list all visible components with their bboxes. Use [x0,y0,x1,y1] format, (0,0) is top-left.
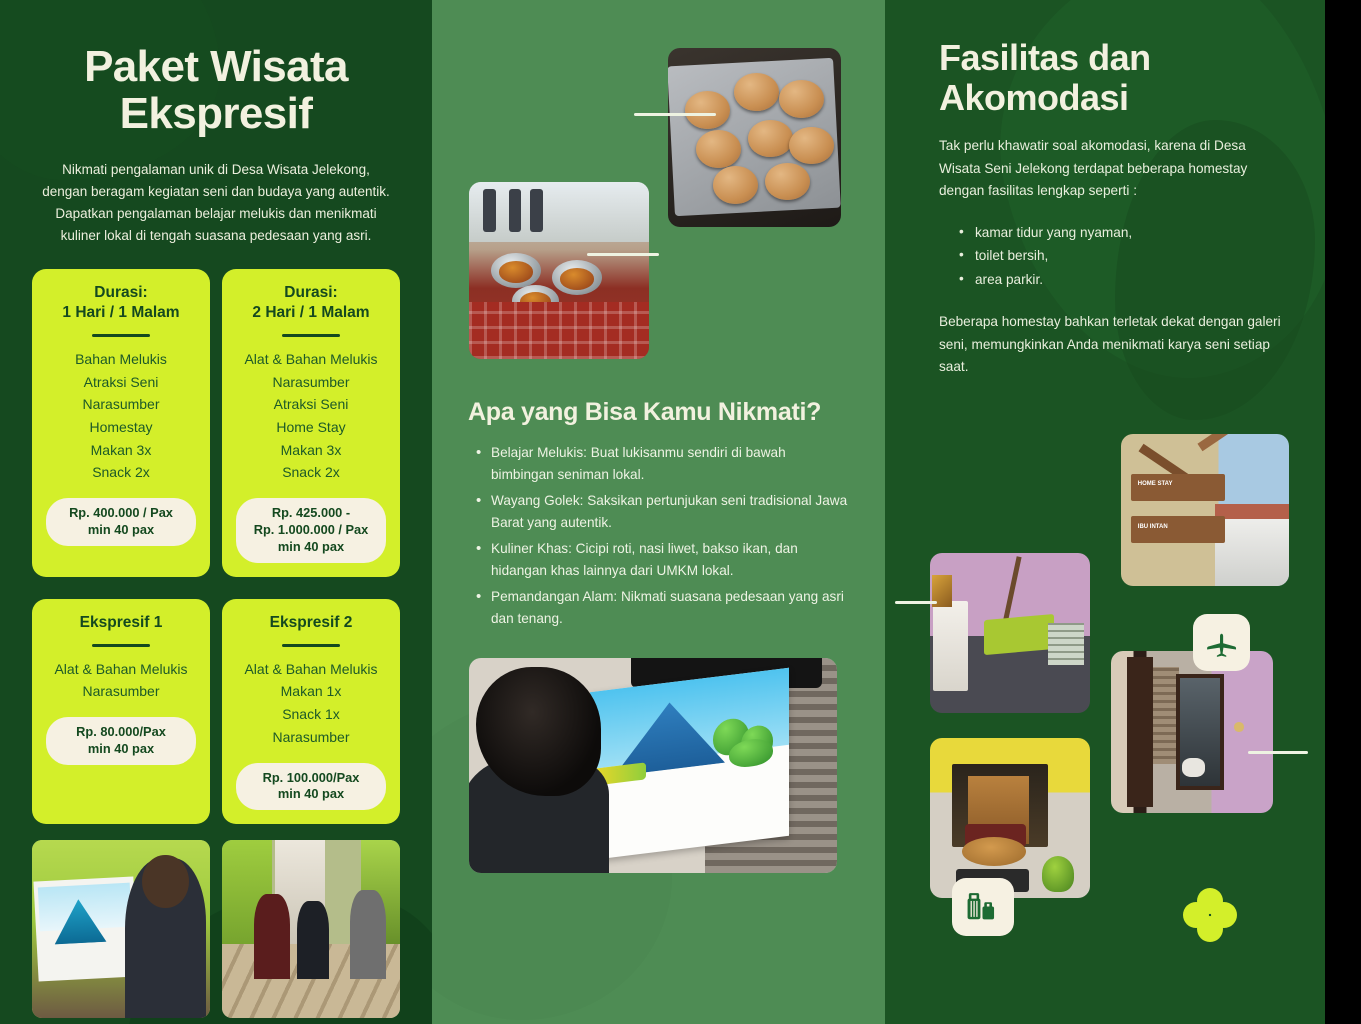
package-cards-row-1: Durasi: 1 Hari / 1 Malam Bahan Melukis A… [32,269,400,577]
card-heading-line2: 1 Hari / 1 Malam [62,304,179,321]
list-item: Makan 1x [244,680,377,703]
price-badge: Rp. 400.000 / Pax min 40 pax [46,498,196,546]
card-divider [282,644,340,647]
facility-list: kamar tidur yang nyaman, toilet bersih, … [939,221,1281,291]
price-badge: Rp. 425.000 - Rp. 1.000.000 / Pax min 40… [236,498,386,563]
photo-food-stall [469,182,649,359]
card-feature-list: Alat & Bahan Melukis Narasumber Atraksi … [244,348,377,484]
list-item: Snack 1x [244,703,377,726]
card-heading: Durasi: 1 Hari / 1 Malam [62,283,179,323]
card-heading: Ekspresif 1 [80,613,163,633]
photo-homestay-sign: HOME STAY IBU INTAN [1121,434,1289,586]
price-line1: Rp. 100.000/Pax [263,770,360,785]
section-title-line2: Akomodasi [939,77,1129,118]
package-card-durasi-2-hari[interactable]: Durasi: 2 Hari / 1 Malam Alat & Bahan Me… [222,269,400,577]
photo-bathroom-door [1111,651,1273,813]
list-item: kamar tidur yang nyaman, [961,221,1281,244]
card-heading-line1: Ekspresif 1 [80,614,163,631]
card-divider [282,334,340,337]
middle-panel: Apa yang Bisa Kamu Nikmati? Belajar Melu… [432,0,885,1024]
highlight-list: Belajar Melukis: Buat lukisanmu sendiri … [474,442,852,634]
list-item: Alat & Bahan Melukis [244,348,377,371]
card-heading-line1: Ekspresif 2 [270,614,353,631]
price-line1: Rp. 80.000/Pax [76,724,166,739]
photo-living-room [930,738,1090,898]
price-line2: Rp. 1.000.000 / Pax [254,522,369,537]
brochure-page: Paket Wisata Ekspresif Nikmati pengalama… [0,0,1361,1024]
photo-painting-class-2 [222,840,400,1018]
section-title-line1: Fasilitas dan [939,37,1151,78]
list-item: Home Stay [244,416,377,439]
photo-painting-class-1 [32,840,210,1018]
leader-line-pies [634,113,716,116]
list-item: Makan 3x [75,439,167,462]
card-divider [92,644,150,647]
airplane-icon [1193,614,1250,671]
list-item: Bahan Melukis [75,348,167,371]
card-heading: Ekspresif 2 [270,613,353,633]
price-line2: min 40 pax [278,786,344,801]
card-feature-list: Alat & Bahan Melukis Makan 1x Snack 1x N… [244,658,377,749]
price-badge: Rp. 80.000/Pax min 40 pax [46,717,196,765]
list-item: Makan 3x [244,439,377,462]
accommodation-paragraph-2: Beberapa homestay bahkan terletak dekat … [939,311,1281,379]
page-title-line2: Ekspresif [120,89,313,138]
luggage-icon [952,878,1014,936]
leader-line-bedroom [895,601,937,604]
list-item: Snack 2x [244,461,377,484]
list-item: Pemandangan Alam: Nikmati suasana pedesa… [474,586,852,630]
package-card-ekspresif-2[interactable]: Ekspresif 2 Alat & Bahan Melukis Makan 1… [222,599,400,825]
list-item: Narasumber [244,726,377,749]
leader-line-door [1248,751,1308,754]
left-panel: Paket Wisata Ekspresif Nikmati pengalama… [0,0,432,1024]
price-line1: Rp. 425.000 - [272,505,350,520]
price-line3: min 40 pax [278,539,344,554]
package-card-durasi-1-hari[interactable]: Durasi: 1 Hari / 1 Malam Bahan Melukis A… [32,269,210,577]
sign-text-line2: IBU INTAN [1138,524,1168,530]
sign-text-line1: HOME STAY [1138,481,1173,487]
list-item: Alat & Bahan Melukis [244,658,377,681]
left-photo-row [32,840,400,1018]
photo-painter [469,658,837,873]
clover-flower-shape [1180,885,1240,945]
card-feature-list: Alat & Bahan Melukis Narasumber [54,658,187,703]
list-item: Atraksi Seni [244,393,377,416]
list-item: Homestay [75,416,167,439]
page-title-line1: Paket Wisata [84,42,348,91]
list-item: Kuliner Khas: Cicipi roti, nasi liwet, b… [474,538,852,582]
accommodation-paragraph-1: Tak perlu khawatir soal akomodasi, karen… [939,135,1281,203]
list-item: Belajar Melukis: Buat lukisanmu sendiri … [474,442,852,486]
section-title-fasilitas: Fasilitas dan Akomodasi [939,38,1281,117]
package-card-ekspresif-1[interactable]: Ekspresif 1 Alat & Bahan Melukis Narasum… [32,599,210,825]
list-item: Atraksi Seni [75,371,167,394]
list-item: Narasumber [54,680,187,703]
page-title: Paket Wisata Ekspresif [32,44,400,137]
card-heading: Durasi: 2 Hari / 1 Malam [252,283,369,323]
leader-line-food [587,253,659,256]
card-feature-list: Bahan Melukis Atraksi Seni Narasumber Ho… [75,348,167,484]
section-heading-nikmati: Apa yang Bisa Kamu Nikmati? [468,398,858,427]
list-item: Narasumber [244,371,377,394]
list-item: toilet bersih, [961,244,1281,267]
price-badge: Rp. 100.000/Pax min 40 pax [236,763,386,811]
card-heading-line1: Durasi: [94,284,147,301]
list-item: area parkir. [961,268,1281,291]
list-item: Snack 2x [75,461,167,484]
photo-bedroom [930,553,1090,713]
list-item: Narasumber [75,393,167,416]
photo-pies-tray [668,48,841,227]
list-item: Alat & Bahan Melukis [54,658,187,681]
card-divider [92,334,150,337]
price-line2: min 40 pax [88,522,154,537]
intro-paragraph: Nikmati pengalaman unik di Desa Wisata J… [38,159,394,246]
list-item: Wayang Golek: Saksikan pertunjukan seni … [474,490,852,534]
price-line2: min 40 pax [88,741,154,756]
price-line1: Rp. 400.000 / Pax [69,505,173,520]
package-cards-row-2: Ekspresif 1 Alat & Bahan Melukis Narasum… [32,599,400,825]
card-heading-line1: Durasi: [284,284,337,301]
card-heading-line2: 2 Hari / 1 Malam [252,304,369,321]
